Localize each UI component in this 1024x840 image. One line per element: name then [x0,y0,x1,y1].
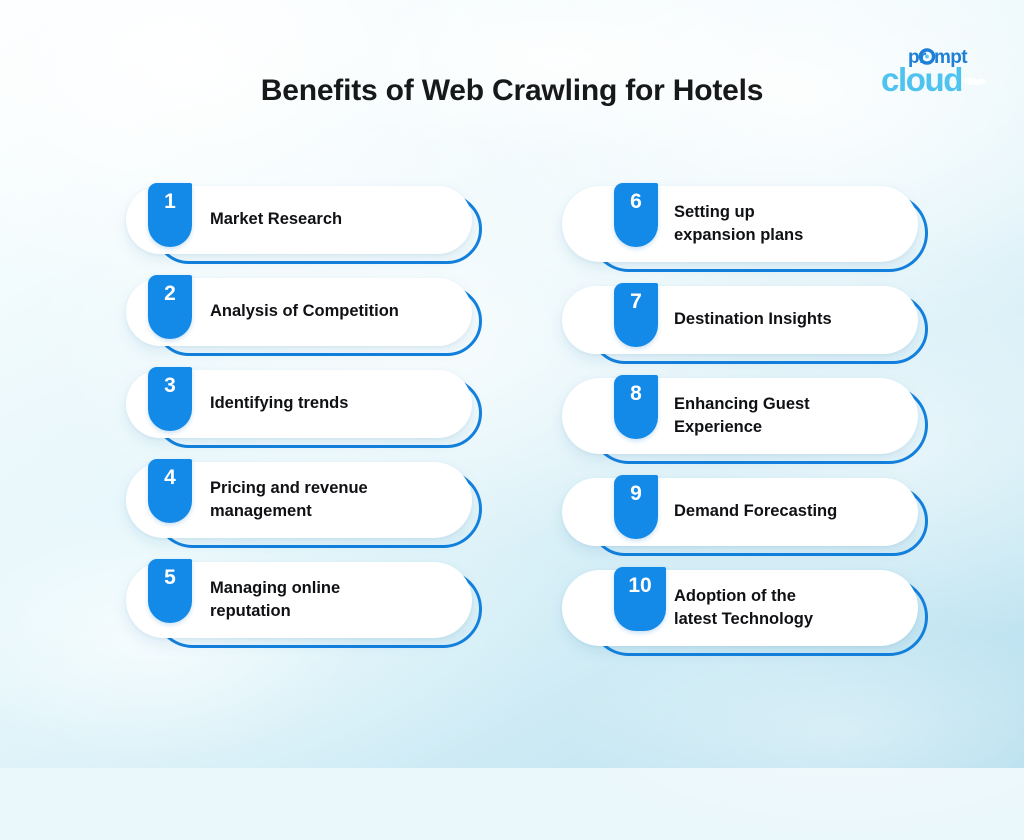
benefit-label: Managing online reputation [210,577,340,624]
benefit-label: Demand Forecasting [674,500,837,523]
benefit-number-badge: 3 [148,367,192,431]
benefit-card[interactable]: Analysis of Competition2 [126,278,482,350]
benefit-number-badge: 7 [614,283,658,347]
logo-o-dot [925,55,929,59]
benefit-card[interactable]: Adoption of the latest Technology10 [562,570,928,650]
benefit-label: Market Research [210,208,342,231]
benefit-card[interactable]: Managing online reputation5 [126,562,482,642]
benefit-label: Enhancing Guest Experience [674,393,810,440]
benefit-label: Destination Insights [674,308,832,331]
benefit-card[interactable]: Identifying trends3 [126,370,482,442]
benefit-number-badge: 2 [148,275,192,339]
benefit-card[interactable]: Market Research1 [126,186,482,258]
benefits-column-right: Setting up expansion plans6Destination I… [562,186,928,670]
benefit-label: Pricing and revenue management [210,477,368,524]
benefit-number-badge: 10 [614,567,666,631]
benefit-label: Adoption of the latest Technology [674,585,813,632]
benefit-label: Identifying trends [210,392,348,415]
benefit-label: Setting up expansion plans [674,201,803,248]
benefit-number-badge: 4 [148,459,192,523]
benefit-card[interactable]: Setting up expansion plans6 [562,186,928,266]
benefit-number-badge: 5 [148,559,192,623]
benefit-number-badge: 8 [614,375,658,439]
benefit-card[interactable]: Enhancing Guest Experience8 [562,378,928,458]
benefit-label: Analysis of Competition [210,300,399,323]
benefits-column-left: Market Research1Analysis of Competition2… [126,186,482,662]
page-title: Benefits of Web Crawling for Hotels [0,74,1024,108]
benefit-card[interactable]: Demand Forecasting9 [562,478,928,550]
benefit-card[interactable]: Pricing and revenue management4 [126,462,482,542]
benefit-number-badge: 6 [614,183,658,247]
benefit-card[interactable]: Destination Insights7 [562,286,928,358]
benefit-number-badge: 9 [614,475,658,539]
benefit-number-badge: 1 [148,183,192,247]
